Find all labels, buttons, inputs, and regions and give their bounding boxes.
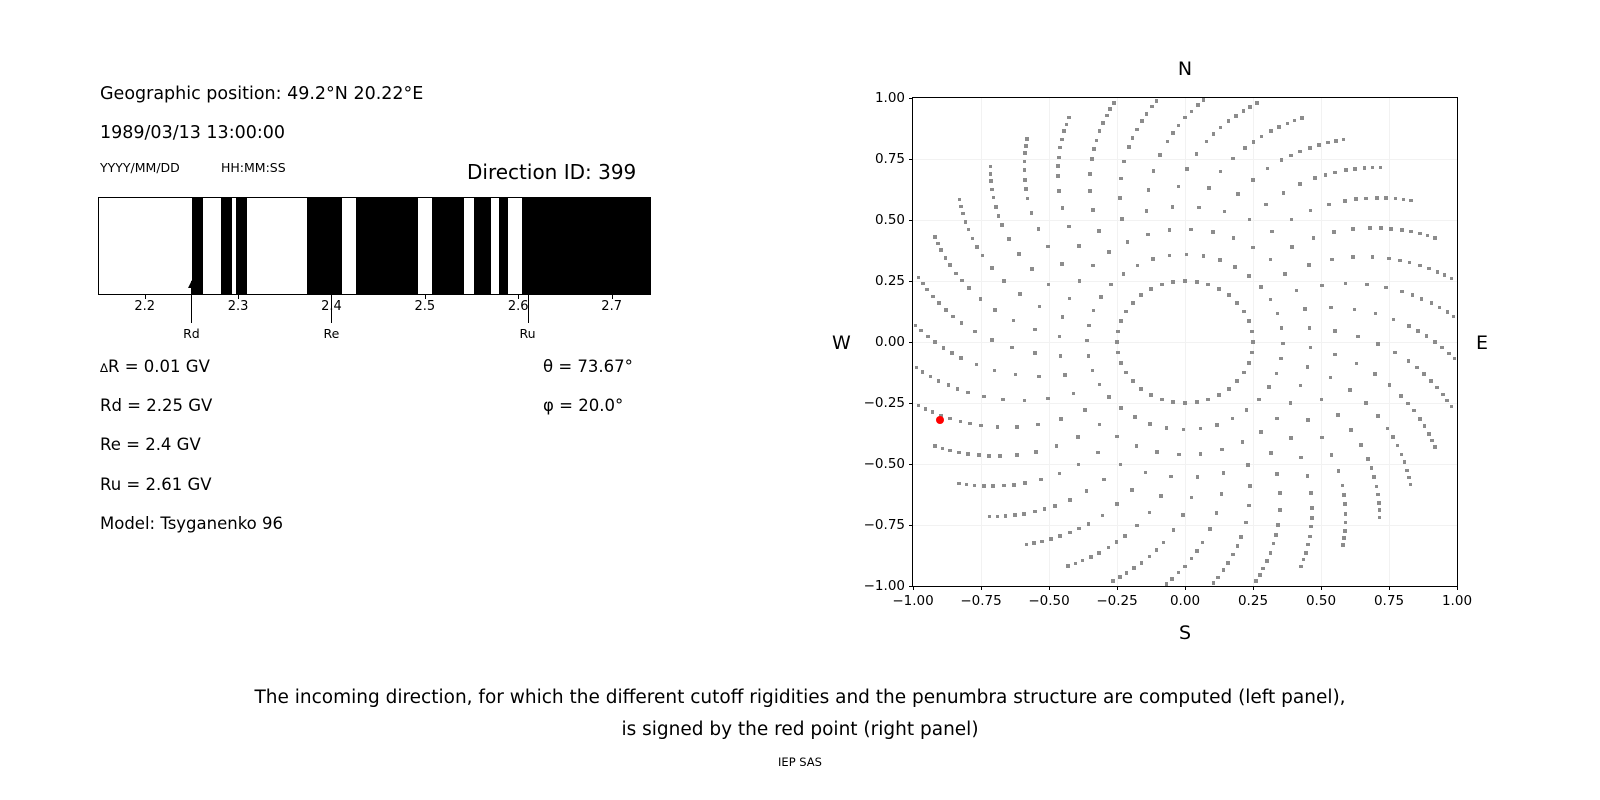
sky-direction-point[interactable] bbox=[1286, 122, 1290, 126]
sky-direction-point[interactable] bbox=[1053, 504, 1057, 508]
sky-direction-point[interactable] bbox=[1165, 426, 1169, 430]
sky-direction-point[interactable] bbox=[1102, 478, 1106, 482]
sky-direction-point[interactable] bbox=[1091, 264, 1095, 268]
sky-direction-point[interactable] bbox=[1212, 132, 1216, 136]
sky-direction-point[interactable] bbox=[921, 282, 925, 286]
sky-direction-point[interactable] bbox=[1309, 346, 1313, 350]
sky-direction-point[interactable] bbox=[1277, 125, 1281, 129]
sky-direction-point[interactable] bbox=[1023, 481, 1027, 485]
sky-direction-point[interactable] bbox=[1171, 280, 1175, 284]
sky-direction-point[interactable] bbox=[1299, 456, 1303, 460]
sky-direction-point[interactable] bbox=[1433, 340, 1437, 344]
sky-direction-point[interactable] bbox=[1371, 166, 1375, 170]
sky-direction-point[interactable] bbox=[1145, 209, 1149, 213]
sky-direction-point[interactable] bbox=[1308, 146, 1312, 150]
sky-direction-point[interactable] bbox=[1059, 354, 1063, 358]
sky-direction-point[interactable] bbox=[1310, 506, 1314, 510]
sky-direction-point[interactable] bbox=[1172, 528, 1176, 532]
sky-direction-point[interactable] bbox=[1427, 432, 1431, 436]
sky-direction-point[interactable] bbox=[1418, 417, 1422, 421]
sky-direction-point[interactable] bbox=[1356, 335, 1360, 339]
sky-direction-point[interactable] bbox=[917, 276, 921, 280]
sky-direction-point[interactable] bbox=[1327, 203, 1331, 207]
sky-direction-point[interactable] bbox=[1309, 491, 1313, 495]
sky-direction-point[interactable] bbox=[1343, 529, 1347, 533]
sky-direction-point[interactable] bbox=[1408, 261, 1412, 265]
sky-direction-point[interactable] bbox=[1403, 460, 1407, 464]
sky-direction-point[interactable] bbox=[1326, 141, 1330, 145]
sky-direction-point[interactable] bbox=[1293, 119, 1297, 123]
sky-direction-point[interactable] bbox=[1353, 167, 1357, 171]
sky-direction-point[interactable] bbox=[956, 387, 960, 391]
sky-direction-point[interactable] bbox=[937, 301, 941, 305]
sky-direction-point[interactable] bbox=[1012, 483, 1016, 487]
sky-direction-point[interactable] bbox=[1007, 237, 1011, 241]
sky-direction-point[interactable] bbox=[1205, 140, 1209, 144]
sky-direction-point[interactable] bbox=[1333, 171, 1337, 175]
sky-direction-point[interactable] bbox=[1289, 401, 1293, 405]
sky-direction-point[interactable] bbox=[1231, 417, 1235, 421]
sky-direction-point[interactable] bbox=[1119, 177, 1123, 181]
sky-direction-point[interactable] bbox=[990, 188, 994, 192]
sky-direction-point[interactable] bbox=[1371, 255, 1375, 259]
sky-direction-point[interactable] bbox=[1068, 297, 1072, 301]
sky-direction-point[interactable] bbox=[967, 228, 971, 232]
sky-direction-point[interactable] bbox=[1131, 136, 1135, 140]
sky-direction-point[interactable] bbox=[1136, 264, 1140, 268]
sky-direction-point[interactable] bbox=[1446, 310, 1450, 314]
sky-direction-point[interactable] bbox=[1269, 551, 1273, 555]
sky-direction-point[interactable] bbox=[947, 383, 951, 387]
sky-direction-point[interactable] bbox=[1002, 279, 1006, 283]
sky-direction-point[interactable] bbox=[1242, 371, 1246, 375]
sky-direction-point[interactable] bbox=[933, 340, 937, 344]
sky-direction-point[interactable] bbox=[1033, 328, 1037, 332]
sky-direction-point[interactable] bbox=[1426, 234, 1430, 238]
sky-direction-point[interactable] bbox=[1267, 385, 1271, 389]
sky-direction-point[interactable] bbox=[1368, 226, 1372, 230]
sky-direction-point[interactable] bbox=[1135, 524, 1139, 528]
sky-direction-point[interactable] bbox=[1248, 218, 1252, 222]
sky-direction-point[interactable] bbox=[1289, 436, 1293, 440]
sky-direction-point[interactable] bbox=[1359, 443, 1363, 447]
sky-direction-point[interactable] bbox=[1310, 516, 1314, 520]
sky-direction-point[interactable] bbox=[1324, 173, 1328, 177]
sky-direction-point[interactable] bbox=[1450, 277, 1454, 281]
sky-direction-point[interactable] bbox=[1269, 451, 1273, 455]
sky-direction-point[interactable] bbox=[1127, 145, 1131, 149]
sky-direction-point[interactable] bbox=[1378, 508, 1382, 512]
sky-direction-point[interactable] bbox=[1427, 267, 1431, 271]
sky-direction-point[interactable] bbox=[1251, 340, 1255, 344]
sky-direction-point[interactable] bbox=[1247, 504, 1251, 508]
sky-direction-point[interactable] bbox=[958, 198, 962, 202]
sky-direction-point[interactable] bbox=[1088, 189, 1092, 193]
sky-direction-point[interactable] bbox=[942, 346, 946, 350]
sky-direction-point[interactable] bbox=[957, 451, 961, 455]
sky-direction-point[interactable] bbox=[1183, 565, 1187, 569]
sky-direction-point[interactable] bbox=[1140, 561, 1144, 565]
sky-direction-point[interactable] bbox=[1058, 472, 1062, 476]
sky-direction-point[interactable] bbox=[1066, 564, 1070, 568]
sky-direction-point[interactable] bbox=[1131, 301, 1135, 305]
sky-direction-point[interactable] bbox=[1196, 103, 1200, 107]
sky-direction-point[interactable] bbox=[961, 212, 965, 216]
sky-direction-point[interactable] bbox=[1023, 168, 1027, 172]
sky-direction-point[interactable] bbox=[1399, 394, 1403, 398]
sky-direction-point[interactable] bbox=[926, 335, 930, 339]
sky-direction-point[interactable] bbox=[1065, 123, 1069, 127]
sky-direction-point[interactable] bbox=[1276, 312, 1280, 316]
sky-direction-point[interactable] bbox=[1216, 576, 1220, 580]
sky-direction-point[interactable] bbox=[1418, 232, 1422, 236]
sky-direction-point[interactable] bbox=[1040, 540, 1044, 544]
sky-direction-point[interactable] bbox=[1384, 196, 1388, 200]
sky-direction-point[interactable] bbox=[1067, 116, 1071, 120]
sky-direction-point[interactable] bbox=[1290, 245, 1294, 249]
sky-direction-point[interactable] bbox=[1300, 116, 1304, 120]
sky-direction-point[interactable] bbox=[1159, 494, 1163, 498]
sky-direction-point[interactable] bbox=[1342, 138, 1346, 142]
sky-direction-point[interactable] bbox=[1197, 206, 1201, 210]
sky-direction-point[interactable] bbox=[1333, 353, 1337, 357]
sky-direction-point[interactable] bbox=[1119, 406, 1123, 410]
sky-direction-point[interactable] bbox=[1101, 121, 1105, 125]
sky-direction-point[interactable] bbox=[1036, 423, 1040, 427]
sky-direction-point[interactable] bbox=[1115, 340, 1119, 344]
sky-direction-point[interactable] bbox=[1391, 435, 1395, 439]
sky-direction-point[interactable] bbox=[1000, 223, 1004, 227]
sky-direction-point[interactable] bbox=[1116, 351, 1120, 355]
sky-direction-point[interactable] bbox=[1375, 485, 1379, 489]
sky-direction-point[interactable] bbox=[1195, 400, 1199, 404]
sky-direction-point[interactable] bbox=[1406, 402, 1410, 406]
sky-direction-point[interactable] bbox=[1258, 573, 1262, 577]
sky-direction-point[interactable] bbox=[1098, 423, 1102, 427]
sky-direction-point[interactable] bbox=[1115, 502, 1119, 506]
sky-direction-point[interactable] bbox=[1155, 99, 1159, 103]
sky-direction-point[interactable] bbox=[1236, 544, 1240, 548]
sky-direction-point[interactable] bbox=[989, 172, 993, 176]
sky-direction-point[interactable] bbox=[975, 245, 979, 249]
sky-direction-point[interactable] bbox=[1068, 531, 1072, 535]
sky-direction-point[interactable] bbox=[1222, 471, 1226, 475]
sky-direction-point[interactable] bbox=[1234, 114, 1238, 118]
sky-direction-point[interactable] bbox=[1098, 129, 1102, 133]
sky-direction-point[interactable] bbox=[1306, 418, 1310, 422]
sky-direction-point[interactable] bbox=[959, 205, 963, 209]
sky-direction-point[interactable] bbox=[1269, 258, 1273, 262]
sky-direction-point[interactable] bbox=[1170, 577, 1174, 581]
sky-direction-point[interactable] bbox=[1402, 198, 1406, 202]
sky-direction-point[interactable] bbox=[1341, 543, 1345, 547]
sky-direction-point[interactable] bbox=[993, 369, 997, 373]
sky-direction-point[interactable] bbox=[1282, 191, 1286, 195]
sky-direction-point[interactable] bbox=[1412, 409, 1416, 413]
sky-direction-point[interactable] bbox=[1409, 483, 1413, 487]
sky-direction-point[interactable] bbox=[1015, 453, 1019, 457]
sky-direction-point[interactable] bbox=[1107, 395, 1111, 399]
sky-direction-point[interactable] bbox=[1233, 265, 1237, 269]
sky-direction-point[interactable] bbox=[1105, 114, 1109, 118]
sky-direction-point[interactable] bbox=[1063, 373, 1067, 377]
sky-direction-point[interactable] bbox=[1299, 565, 1303, 569]
sky-direction-point[interactable] bbox=[1177, 185, 1181, 189]
sky-direction-point[interactable] bbox=[1386, 427, 1390, 431]
sky-direction-point[interactable] bbox=[1160, 398, 1164, 402]
sky-direction-point[interactable] bbox=[1072, 392, 1076, 396]
sky-direction-point[interactable] bbox=[1251, 246, 1255, 250]
sky-direction-point[interactable] bbox=[1018, 292, 1022, 296]
sky-direction-point[interactable] bbox=[1295, 289, 1299, 293]
sky-direction-point[interactable] bbox=[924, 407, 928, 411]
sky-direction-point[interactable] bbox=[965, 483, 969, 487]
sky-direction-point[interactable] bbox=[959, 420, 963, 424]
sky-direction-point[interactable] bbox=[1169, 475, 1173, 479]
sky-direction-point[interactable] bbox=[1177, 571, 1181, 575]
sky-direction-point[interactable] bbox=[1120, 217, 1124, 221]
sky-direction-point[interactable] bbox=[1039, 478, 1043, 482]
sky-direction-point[interactable] bbox=[1231, 157, 1235, 161]
sky-direction-point[interactable] bbox=[1349, 428, 1353, 432]
sky-direction-point[interactable] bbox=[950, 351, 954, 355]
sky-direction-point[interactable] bbox=[1032, 541, 1036, 545]
sky-direction-point[interactable] bbox=[1236, 192, 1240, 196]
sky-direction-point[interactable] bbox=[1165, 582, 1169, 586]
sky-direction-point[interactable] bbox=[979, 297, 983, 301]
sky-direction-point[interactable] bbox=[1275, 472, 1279, 476]
sky-direction-point[interactable] bbox=[1001, 398, 1005, 402]
sky-direction-point[interactable] bbox=[1429, 379, 1433, 383]
sky-direction-point[interactable] bbox=[1217, 287, 1221, 291]
sky-direction-point[interactable] bbox=[1269, 129, 1273, 133]
sky-direction-point[interactable] bbox=[1057, 156, 1061, 160]
sky-direction-point[interactable] bbox=[1398, 259, 1402, 263]
sky-direction-point[interactable] bbox=[1341, 484, 1345, 488]
sky-direction-point[interactable] bbox=[1329, 376, 1333, 380]
sky-direction-point[interactable] bbox=[1140, 119, 1144, 123]
sky-direction-point[interactable] bbox=[1109, 283, 1113, 287]
sky-direction-point[interactable] bbox=[1298, 182, 1302, 186]
sky-direction-point[interactable] bbox=[988, 515, 992, 519]
sky-direction-point[interactable] bbox=[1453, 357, 1457, 361]
sky-direction-point[interactable] bbox=[1068, 498, 1072, 502]
sky-direction-point[interactable] bbox=[1181, 513, 1185, 517]
sky-direction-point[interactable] bbox=[992, 196, 996, 200]
sky-direction-point[interactable] bbox=[933, 444, 937, 448]
sky-direction-point[interactable] bbox=[996, 515, 1000, 519]
sky-direction-point[interactable] bbox=[1055, 444, 1059, 448]
sky-direction-point[interactable] bbox=[933, 235, 937, 239]
sky-direction-point[interactable] bbox=[1387, 257, 1391, 261]
sky-direction-point[interactable] bbox=[1409, 199, 1413, 203]
sky-direction-point[interactable] bbox=[1133, 415, 1137, 419]
sky-direction-point[interactable] bbox=[1418, 264, 1422, 268]
sky-direction-point[interactable] bbox=[1344, 512, 1348, 516]
sky-direction-point[interactable] bbox=[948, 449, 952, 453]
sky-direction-point[interactable] bbox=[1206, 398, 1210, 402]
sky-direction-point[interactable] bbox=[1378, 516, 1382, 520]
sky-direction-point[interactable] bbox=[1415, 366, 1419, 370]
sky-direction-point[interactable] bbox=[1283, 272, 1287, 276]
sky-direction-point[interactable] bbox=[1212, 581, 1216, 585]
sky-direction-point[interactable] bbox=[1351, 227, 1355, 231]
sky-direction-point[interactable] bbox=[1135, 444, 1139, 448]
sky-direction-point[interactable] bbox=[990, 266, 994, 270]
sky-direction-point[interactable] bbox=[1139, 387, 1143, 391]
sky-direction-point[interactable] bbox=[1108, 107, 1112, 111]
sky-direction-point[interactable] bbox=[1306, 474, 1310, 478]
sky-direction-point[interactable] bbox=[1077, 244, 1081, 248]
sky-direction-point[interactable] bbox=[1151, 257, 1155, 261]
sky-direction-point[interactable] bbox=[1097, 551, 1101, 555]
sky-direction-point[interactable] bbox=[1061, 315, 1065, 319]
sky-direction-point[interactable] bbox=[1119, 319, 1123, 323]
sky-direction-point[interactable] bbox=[1119, 463, 1123, 467]
sky-direction-point[interactable] bbox=[1342, 536, 1346, 540]
sky-direction-point[interactable] bbox=[1370, 466, 1374, 470]
sky-direction-point[interactable] bbox=[1107, 546, 1111, 550]
sky-direction-point[interactable] bbox=[964, 220, 968, 224]
sky-direction-point[interactable] bbox=[1250, 330, 1254, 334]
sky-map-plot-area[interactable]: −1.00−0.75−0.50−0.250.000.250.500.751.00… bbox=[912, 97, 1458, 587]
sky-direction-point[interactable] bbox=[1239, 535, 1243, 539]
sky-direction-point[interactable] bbox=[1183, 116, 1187, 120]
sky-direction-point[interactable] bbox=[1332, 230, 1336, 234]
sky-direction-point[interactable] bbox=[1235, 301, 1239, 305]
sky-direction-point[interactable] bbox=[1247, 274, 1251, 278]
sky-direction-point[interactable] bbox=[1171, 205, 1175, 209]
sky-direction-point[interactable] bbox=[1025, 137, 1029, 141]
sky-direction-point[interactable] bbox=[1393, 351, 1397, 355]
sky-direction-point[interactable] bbox=[1004, 514, 1008, 518]
sky-direction-point[interactable] bbox=[1372, 475, 1376, 479]
sky-direction-point[interactable] bbox=[1119, 361, 1123, 365]
sky-direction-point[interactable] bbox=[1281, 342, 1285, 346]
sky-direction-point[interactable] bbox=[1248, 105, 1252, 109]
sky-direction-point[interactable] bbox=[1023, 399, 1027, 403]
sky-direction-point[interactable] bbox=[1416, 329, 1420, 333]
sky-direction-point[interactable] bbox=[1218, 258, 1222, 262]
sky-direction-point[interactable] bbox=[1185, 253, 1189, 257]
sky-direction-point[interactable] bbox=[1097, 229, 1101, 233]
sky-direction-point[interactable] bbox=[975, 363, 979, 367]
sky-direction-point[interactable] bbox=[1261, 567, 1265, 571]
sky-direction-point[interactable] bbox=[1433, 445, 1437, 449]
sky-direction-point[interactable] bbox=[1440, 346, 1444, 350]
sky-direction-point[interactable] bbox=[1276, 523, 1280, 527]
sky-direction-point[interactable] bbox=[1196, 475, 1200, 479]
sky-direction-point[interactable] bbox=[1280, 158, 1284, 162]
sky-direction-point[interactable] bbox=[1099, 295, 1103, 299]
sky-direction-point[interactable] bbox=[1423, 424, 1427, 428]
sky-direction-point[interactable] bbox=[1126, 240, 1130, 244]
sky-direction-point[interactable] bbox=[1085, 489, 1089, 493]
sky-direction-point[interactable] bbox=[1379, 226, 1383, 230]
sky-direction-point[interactable] bbox=[998, 454, 1002, 458]
sky-direction-point[interactable] bbox=[1195, 549, 1199, 553]
sky-direction-point[interactable] bbox=[1219, 126, 1223, 130]
sky-direction-point[interactable] bbox=[1430, 301, 1434, 305]
sky-direction-point[interactable] bbox=[1308, 535, 1312, 539]
sky-direction-point[interactable] bbox=[1376, 414, 1380, 418]
sky-direction-point[interactable] bbox=[1330, 258, 1334, 262]
sky-direction-point[interactable] bbox=[1227, 387, 1231, 391]
sky-direction-point[interactable] bbox=[1254, 579, 1258, 583]
sky-direction-point[interactable] bbox=[1259, 285, 1263, 289]
sky-direction-point[interactable] bbox=[1363, 166, 1367, 170]
sky-direction-point[interactable] bbox=[1189, 228, 1193, 232]
sky-direction-point[interactable] bbox=[1243, 146, 1247, 150]
sky-direction-point[interactable] bbox=[1091, 369, 1095, 373]
sky-direction-point[interactable] bbox=[915, 366, 919, 370]
sky-direction-point[interactable] bbox=[1306, 365, 1310, 369]
sky-direction-point[interactable] bbox=[1211, 230, 1215, 234]
sky-direction-point[interactable] bbox=[1443, 273, 1447, 277]
sky-direction-point[interactable] bbox=[1235, 379, 1239, 383]
sky-direction-point[interactable] bbox=[1111, 579, 1115, 583]
sky-direction-point[interactable] bbox=[1058, 146, 1062, 150]
sky-direction-point[interactable] bbox=[1074, 562, 1078, 566]
sky-direction-point[interactable] bbox=[1076, 435, 1080, 439]
sky-direction-point[interactable] bbox=[1309, 525, 1313, 529]
sky-direction-point[interactable] bbox=[1246, 463, 1250, 467]
sky-direction-point[interactable] bbox=[1030, 267, 1034, 271]
sky-direction-point[interactable] bbox=[1177, 453, 1181, 457]
sky-direction-point[interactable] bbox=[1425, 334, 1429, 338]
sky-direction-point[interactable] bbox=[1190, 557, 1194, 561]
sky-direction-point[interactable] bbox=[1208, 527, 1212, 531]
sky-direction-point[interactable] bbox=[1351, 255, 1355, 259]
sky-direction-point[interactable] bbox=[1333, 329, 1337, 333]
sky-direction-point[interactable] bbox=[1265, 559, 1269, 563]
sky-direction-point[interactable] bbox=[1148, 555, 1152, 559]
sky-direction-point[interactable] bbox=[1095, 139, 1099, 143]
sky-direction-point[interactable] bbox=[1145, 112, 1149, 116]
sky-direction-point[interactable] bbox=[989, 179, 993, 183]
sky-direction-point[interactable] bbox=[1445, 399, 1449, 403]
sky-direction-point[interactable] bbox=[1353, 308, 1357, 312]
sky-direction-point[interactable] bbox=[1089, 555, 1093, 559]
sky-direction-point[interactable] bbox=[1266, 167, 1270, 171]
sky-direction-point[interactable] bbox=[996, 425, 1000, 429]
sky-direction-point[interactable] bbox=[1112, 101, 1116, 105]
sky-direction-point[interactable] bbox=[931, 410, 935, 414]
sky-direction-point[interactable] bbox=[1061, 206, 1065, 210]
sky-direction-point[interactable] bbox=[1162, 541, 1166, 545]
sky-direction-point[interactable] bbox=[954, 272, 958, 276]
sky-direction-point[interactable] bbox=[1092, 309, 1096, 313]
sky-direction-point[interactable] bbox=[1264, 203, 1268, 207]
sky-direction-point[interactable] bbox=[1257, 398, 1261, 402]
sky-direction-point[interactable] bbox=[1298, 150, 1302, 154]
sky-direction-point[interactable] bbox=[1085, 339, 1089, 343]
sky-direction-point[interactable] bbox=[991, 484, 995, 488]
sky-direction-point[interactable] bbox=[959, 356, 963, 360]
sky-direction-point[interactable] bbox=[1125, 571, 1129, 575]
sky-direction-point[interactable] bbox=[968, 422, 972, 426]
sky-direction-point[interactable] bbox=[1422, 372, 1426, 376]
sky-direction-point[interactable] bbox=[944, 256, 948, 260]
sky-direction-point[interactable] bbox=[1185, 167, 1189, 171]
sky-direction-point[interactable] bbox=[960, 279, 964, 283]
sky-direction-point[interactable] bbox=[1280, 326, 1284, 330]
sky-direction-point[interactable] bbox=[1026, 197, 1030, 201]
sky-direction-point[interactable] bbox=[1242, 109, 1246, 113]
sky-direction-point[interactable] bbox=[993, 308, 997, 312]
sky-direction-point[interactable] bbox=[1038, 305, 1042, 309]
sky-direction-point[interactable] bbox=[1441, 393, 1445, 397]
